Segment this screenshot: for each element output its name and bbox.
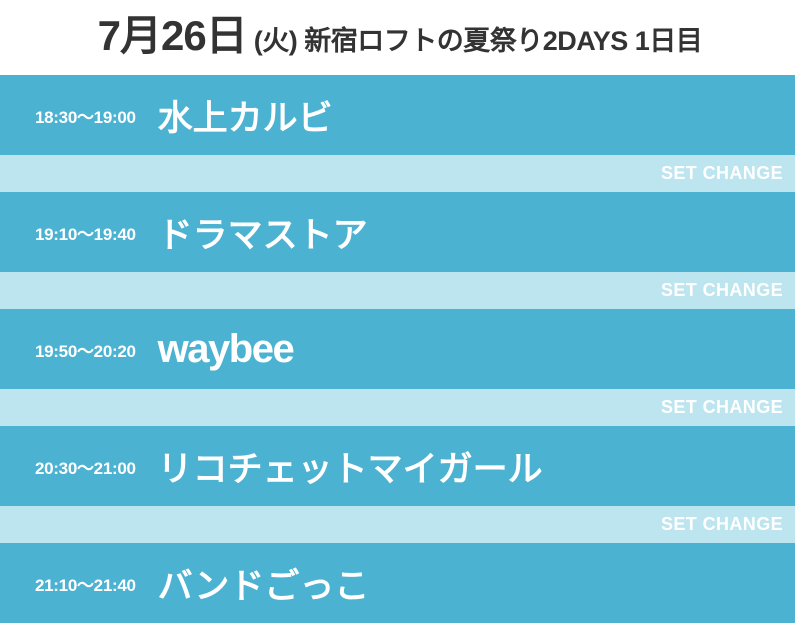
schedule-row: 20:30〜21:00 リコチェットマイガール: [0, 426, 800, 506]
schedule-row: 21:10〜21:40 バンドごっこ: [0, 543, 800, 623]
schedule-row: 19:50〜20:20 waybee: [0, 309, 800, 389]
schedule-list: 18:30〜19:00 水上カルビ SET CHANGE 19:10〜19:40…: [0, 75, 800, 618]
act-time: 21:10〜21:40: [35, 571, 136, 596]
set-change-label: SET CHANGE: [661, 514, 783, 535]
schedule-row: 18:30〜19:00 水上カルビ: [0, 75, 800, 155]
set-change-row: SET CHANGE: [0, 155, 800, 192]
act-time: 19:50〜20:20: [35, 337, 136, 362]
schedule-row: 19:10〜19:40 ドラマストア: [0, 192, 800, 272]
set-change-label: SET CHANGE: [661, 397, 783, 418]
act-artist-name: waybee: [158, 327, 294, 372]
set-change-row: SET CHANGE: [0, 506, 800, 543]
act-artist-name: 水上カルビ: [158, 90, 333, 141]
act-artist-name: リコチェットマイガール: [158, 441, 543, 492]
header-title-line: 7月26日 (火) 新宿ロフトの夏祭り2DAYS 1日目: [98, 15, 703, 57]
set-change-row: SET CHANGE: [0, 389, 800, 426]
act-time: 19:10〜19:40: [35, 220, 136, 245]
event-timetable-poster: 7月26日 (火) 新宿ロフトの夏祭り2DAYS 1日目 18:30〜19:00…: [0, 0, 800, 618]
poster-header: 7月26日 (火) 新宿ロフトの夏祭り2DAYS 1日目: [0, 0, 800, 75]
set-change-row: SET CHANGE: [0, 272, 800, 309]
event-subtitle: (火) 新宿ロフトの夏祭り2DAYS 1日目: [254, 28, 703, 55]
act-time: 20:30〜21:00: [35, 454, 136, 479]
act-time: 18:30〜19:00: [35, 103, 136, 128]
act-artist-name: バンドごっこ: [158, 558, 370, 609]
set-change-label: SET CHANGE: [661, 280, 783, 301]
event-date: 7月26日: [98, 15, 247, 57]
set-change-label: SET CHANGE: [661, 163, 783, 184]
act-artist-name: ドラマストア: [158, 207, 368, 258]
